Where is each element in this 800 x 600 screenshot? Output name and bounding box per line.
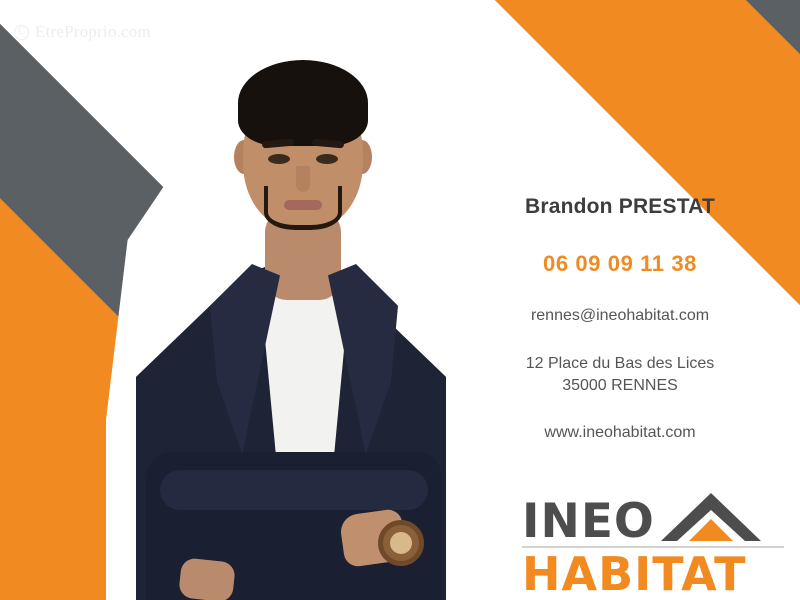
agent-business-card: C EtreProprio.com Brandon PRESTAT 06 09 … [0,0,800,600]
hand-right [178,557,236,600]
agent-email[interactable]: rennes@ineohabitat.com [440,307,800,325]
logo-word-ineo: INEO [522,500,655,545]
wristwatch-face [390,532,412,554]
agent-portrait-photo [60,0,500,600]
agent-contact-panel: Brandon PRESTAT 06 09 09 11 38 rennes@in… [440,195,800,442]
agent-phone[interactable]: 06 09 09 11 38 [440,251,800,277]
mouth [284,200,322,210]
eye-left [268,154,290,164]
watermark: C EtreProprio.com [14,22,151,42]
agent-address: 12 Place du Bas des Lices 35000 RENNES [440,353,800,396]
house-roof-chevron-icon [659,491,763,545]
address-line-2: 35000 RENNES [440,375,800,397]
eye-right [316,154,338,164]
logo-word-habitat: HABITAT [522,550,784,598]
agent-website[interactable]: www.ineohabitat.com [440,424,800,442]
copyright-icon: C [14,25,29,40]
company-logo[interactable]: INEO HABITAT [522,489,784,598]
arm-highlight [160,470,428,510]
logo-top-row: INEO [522,489,784,545]
hair [238,60,368,146]
address-line-1: 12 Place du Bas des Lices [440,353,800,375]
agent-name: Brandon PRESTAT [440,195,800,219]
watermark-label: EtreProprio.com [35,22,151,42]
